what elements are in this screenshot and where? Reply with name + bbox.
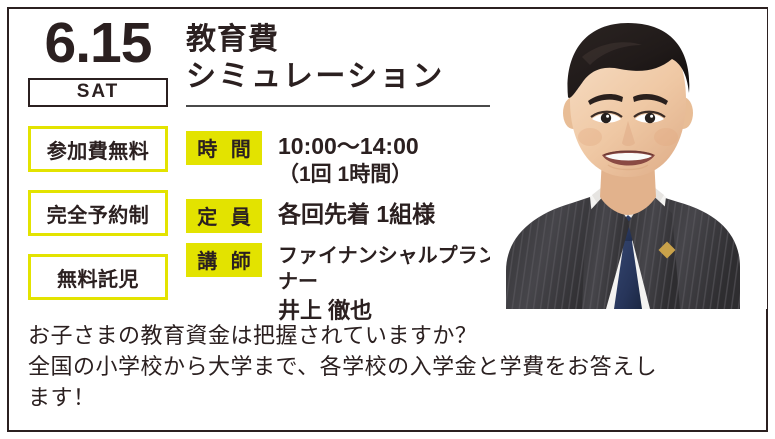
eye-left [601, 113, 611, 123]
detail-value-capacity-main: 各回先着 1組様 [278, 201, 435, 227]
detail-value-instructor: ファイナンシャルプランナー 井上 徹也 [278, 243, 516, 325]
badge-reservation-required: 完全予約制 [28, 190, 168, 236]
badge-free-childcare: 無料託児 [28, 254, 168, 300]
description-line-1: お子さまの教育資金は把握されていますか？ [28, 320, 743, 351]
detail-label-time: 時 間 [186, 131, 262, 165]
detail-label-capacity: 定 員 [186, 199, 262, 233]
badge-free-participation: 参加費無料 [28, 126, 168, 172]
detail-value-time-sub: （1回 1時間） [278, 161, 419, 189]
detail-value-capacity: 各回先着 1組様 [278, 199, 435, 229]
detail-row-capacity: 定 員 各回先着 1組様 [186, 199, 516, 233]
date-block: 6.15 SAT [28, 14, 168, 107]
event-day-of-week: SAT [28, 78, 168, 107]
detail-list: 時 間 10:00〜14:00 （1回 1時間） 定 員 各回先着 1組様 講 … [186, 131, 516, 335]
badge-list: 参加費無料 完全予約制 無料託児 [28, 126, 168, 318]
description-line-3: ます！ [28, 382, 743, 413]
detail-value-time-main: 10:00〜14:00 [278, 133, 419, 159]
instructor-title: ファイナンシャルプランナー [278, 243, 516, 296]
description-line-2: 全国の小学校から大学まで、各学校の入学金と学費をお答えし [28, 351, 743, 382]
description-text: お子さまの教育資金は把握されていますか？ 全国の小学校から大学まで、各学校の入学… [28, 320, 743, 414]
detail-value-time: 10:00〜14:00 （1回 1時間） [278, 131, 419, 189]
event-date: 6.15 [28, 14, 168, 74]
eye-right [645, 113, 655, 123]
detail-row-time: 時 間 10:00〜14:00 （1回 1時間） [186, 131, 516, 189]
event-flyer: 6.15 SAT 参加費無料 完全予約制 無料託児 教育費 シミュレーション 時… [0, 0, 775, 439]
instructor-photo [490, 9, 767, 309]
detail-row-instructor: 講 師 ファイナンシャルプランナー 井上 徹也 [186, 243, 516, 325]
detail-label-instructor: 講 師 [186, 243, 262, 277]
